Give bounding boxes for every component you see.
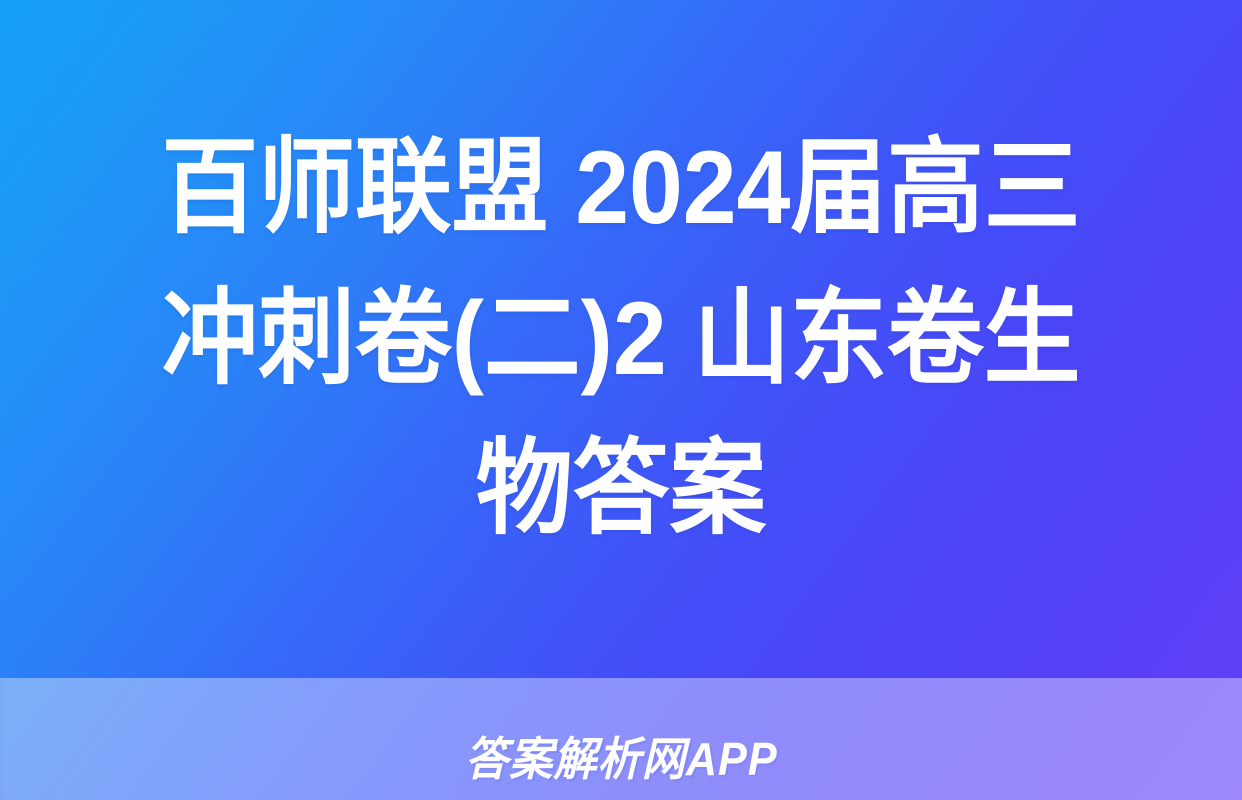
answer-cover-card: 百师联盟 2024届高三冲刺卷(二)2 山东卷生物答案 答案解析网APP	[0, 0, 1242, 800]
footer-band: 答案解析网APP	[0, 678, 1242, 800]
hero-gradient-area: 百师联盟 2024届高三冲刺卷(二)2 山东卷生物答案	[0, 0, 1242, 678]
app-watermark-label: 答案解析网APP	[465, 723, 778, 789]
page-title: 百师联盟 2024届高三冲刺卷(二)2 山东卷生物答案	[114, 113, 1128, 565]
